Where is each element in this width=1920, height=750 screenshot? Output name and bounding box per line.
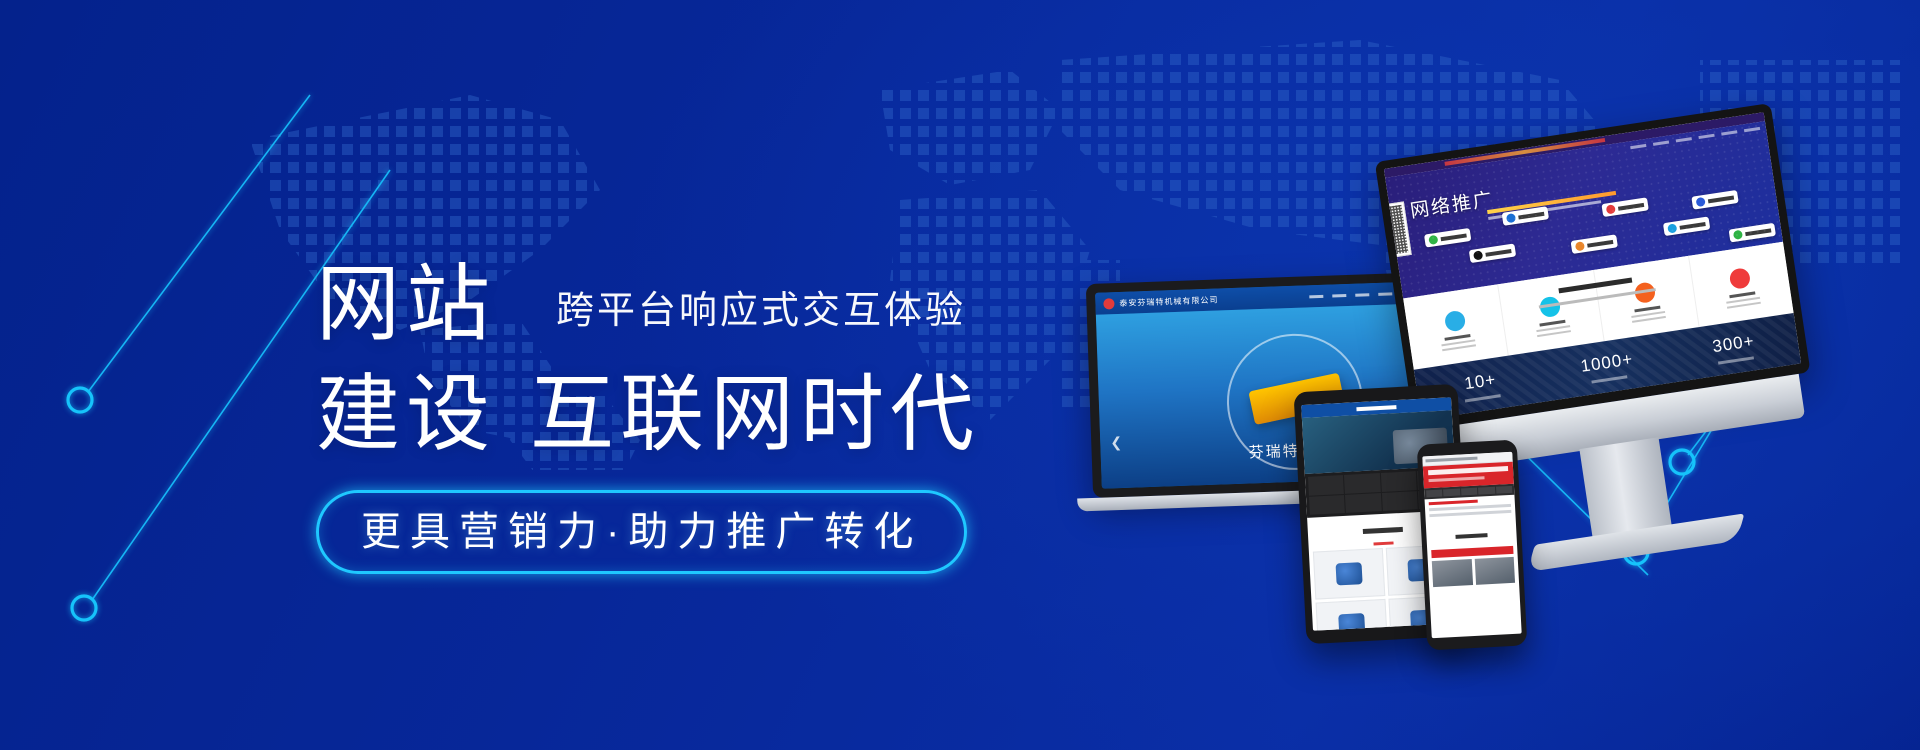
phone-cta-strip [1431, 546, 1513, 558]
menu-item [1308, 475, 1344, 495]
menu-item [1344, 473, 1380, 493]
stat-label-bar [1465, 394, 1501, 402]
tablet-site-brand [1356, 405, 1396, 411]
product-card [1313, 548, 1385, 600]
phone-site [1422, 452, 1521, 638]
phone-site-banner [1423, 462, 1514, 489]
tablet-home-button-icon [1384, 626, 1396, 630]
monitor-hero-subtitle [1487, 191, 1617, 220]
headline-line2-part1: 建设 [316, 367, 496, 461]
service-heading-bar [1558, 277, 1632, 293]
nav-item [1309, 294, 1323, 297]
nav-item [1378, 292, 1392, 295]
nav-item [1653, 141, 1669, 146]
nav-item [1676, 137, 1692, 142]
tab-item [1443, 489, 1460, 497]
nav-item [1744, 127, 1760, 132]
subtitle-line [1487, 191, 1616, 214]
news-item [1429, 500, 1478, 506]
device-mockup-cluster: 泰安芬瑞特机械有限公司 芬瑞特机械 ❮ [1090, 130, 1920, 650]
product-card [1432, 559, 1473, 587]
headline-line1-subtitle: 跨平台响应式交互体验 [556, 292, 966, 330]
brand-chip [1469, 243, 1516, 263]
menu-item [1309, 494, 1345, 514]
banner-sub-bar [1428, 476, 1484, 482]
hero-copy: 网站 跨平台响应式交互体验 建设互联网时代 更具营销力·助力推广转化 [316, 262, 1076, 574]
tab-item [1461, 488, 1478, 496]
menu-item [1380, 471, 1416, 491]
product-card [1474, 557, 1515, 585]
phone-product-grid [1428, 557, 1519, 588]
phone-mockup [1417, 440, 1528, 651]
carousel-prev-icon: ❮ [1110, 434, 1122, 451]
stat-value: 1000+ [1542, 344, 1672, 383]
section-underline [1373, 541, 1393, 545]
headline-line2-part2: 互联网时代 [530, 367, 980, 461]
tab-item [1426, 489, 1443, 497]
nav-item [1332, 294, 1346, 297]
brand-chip [1691, 190, 1738, 210]
nav-item [1630, 144, 1646, 149]
brand-chip [1601, 197, 1648, 217]
stat-label-bar [1591, 375, 1627, 383]
section-title-bar [1455, 533, 1487, 539]
brand-chip [1502, 206, 1549, 226]
nav-item [1698, 134, 1714, 139]
menu-item [1345, 493, 1381, 513]
nav-item [1721, 130, 1737, 135]
laptop-site-logo-icon [1103, 298, 1114, 309]
menu-item [1381, 491, 1417, 511]
phone-section-heading [1426, 519, 1517, 548]
brand-chip [1424, 228, 1471, 248]
news-item [1429, 510, 1511, 517]
brand-chip [1663, 216, 1710, 236]
brand-chip [1571, 234, 1618, 254]
nav-item [1355, 293, 1369, 296]
headline-line2: 建设互联网时代 [316, 372, 1076, 456]
tab-item [1478, 487, 1495, 495]
product-card [1316, 599, 1388, 631]
section-title-bar [1363, 527, 1403, 534]
tagline-pill: 更具营销力·助力推广转化 [316, 490, 967, 574]
hero-banner: 网站 跨平台响应式交互体验 建设互联网时代 更具营销力·助力推广转化 泰安芬瑞特… [0, 0, 1920, 750]
monitor-site: 网络推广 [1384, 112, 1801, 420]
brand-chip [1729, 223, 1776, 243]
headline-line1-main: 网站 [316, 262, 496, 346]
subtitle-line [1488, 200, 1602, 220]
qr-code-icon [1386, 201, 1412, 257]
laptop-site-brand: 泰安芬瑞特机械有限公司 [1119, 294, 1218, 308]
headline-row-1: 网站 跨平台响应式交互体验 [316, 262, 1076, 346]
tab-item [1496, 486, 1513, 494]
banner-headline-bar [1428, 466, 1508, 475]
headline-row-2: 建设互联网时代 [316, 372, 1076, 456]
monitor-hero-title: 网络推广 [1408, 184, 1495, 223]
stat-value: 300+ [1669, 325, 1799, 364]
tagline-text: 更具营销力·助力推广转化 [361, 512, 922, 552]
phone-home-button-icon [1473, 636, 1484, 639]
stat-label-bar [1718, 356, 1754, 364]
phone-url-bar [1425, 457, 1477, 463]
